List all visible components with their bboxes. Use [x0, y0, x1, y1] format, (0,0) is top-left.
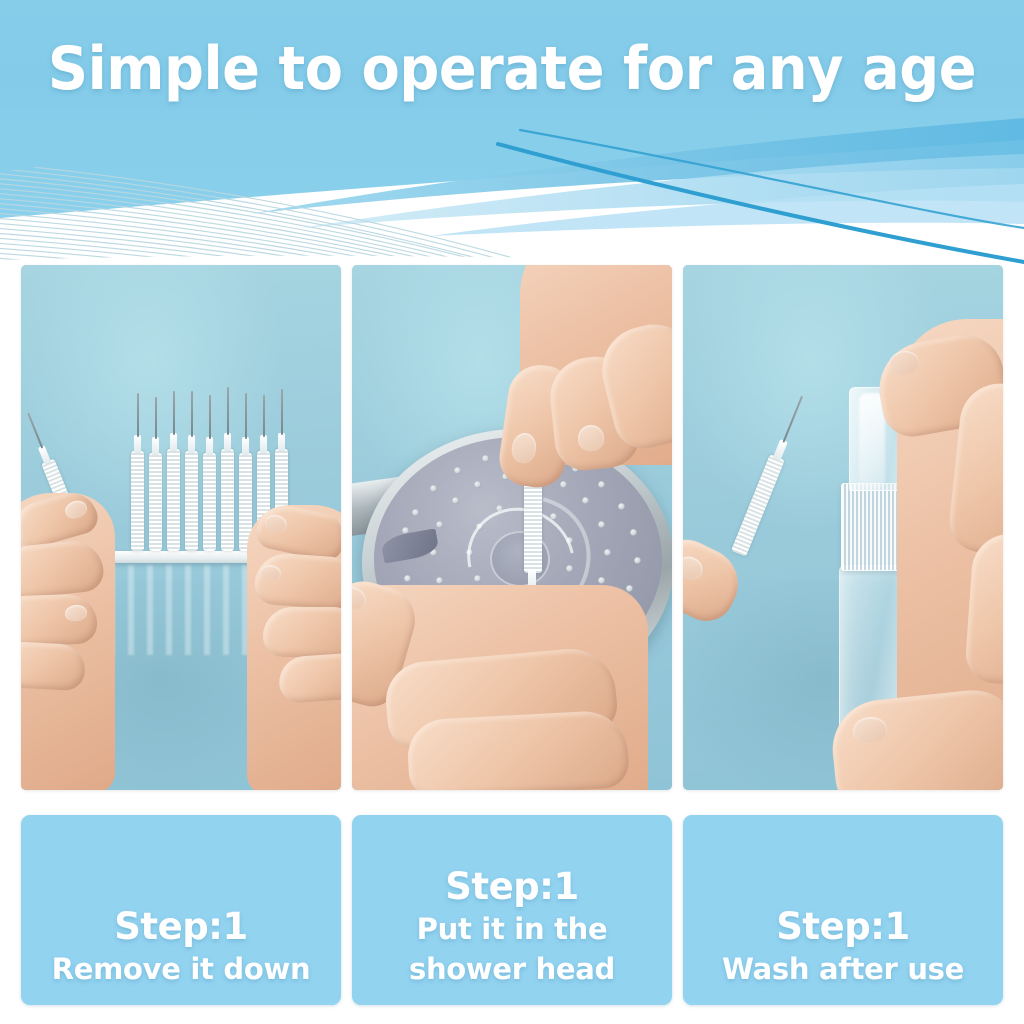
page-title: Simple to operate for any age [36, 38, 988, 100]
caption-box-step3: Step:1 Wash after use [683, 815, 1003, 1005]
photo-panel-wash [683, 265, 1003, 790]
photo-panel-row [21, 265, 1003, 790]
wave-decoration [0, 110, 1024, 270]
caption-box-step2: Step:1 Put it in the shower head [352, 815, 672, 1005]
caption-description: Wash after use [722, 949, 964, 989]
caption-description: Put it in the shower head [409, 909, 615, 989]
photo-panel-insert [352, 265, 672, 790]
wave-svg [0, 110, 1024, 270]
caption-row: Step:1 Remove it down Step:1 Put it in t… [21, 815, 1003, 1005]
photo-panel-remove [21, 265, 341, 790]
product-infographic: Simple to operate for any age [0, 0, 1024, 1024]
caption-box-step1: Step:1 Remove it down [21, 815, 341, 1005]
caption-step-label: Step:1 [776, 905, 909, 949]
shower-head-lever [380, 528, 440, 563]
caption-step-label: Step:1 [445, 865, 578, 909]
caption-description: Remove it down [52, 949, 311, 989]
caption-step-label: Step:1 [114, 905, 247, 949]
